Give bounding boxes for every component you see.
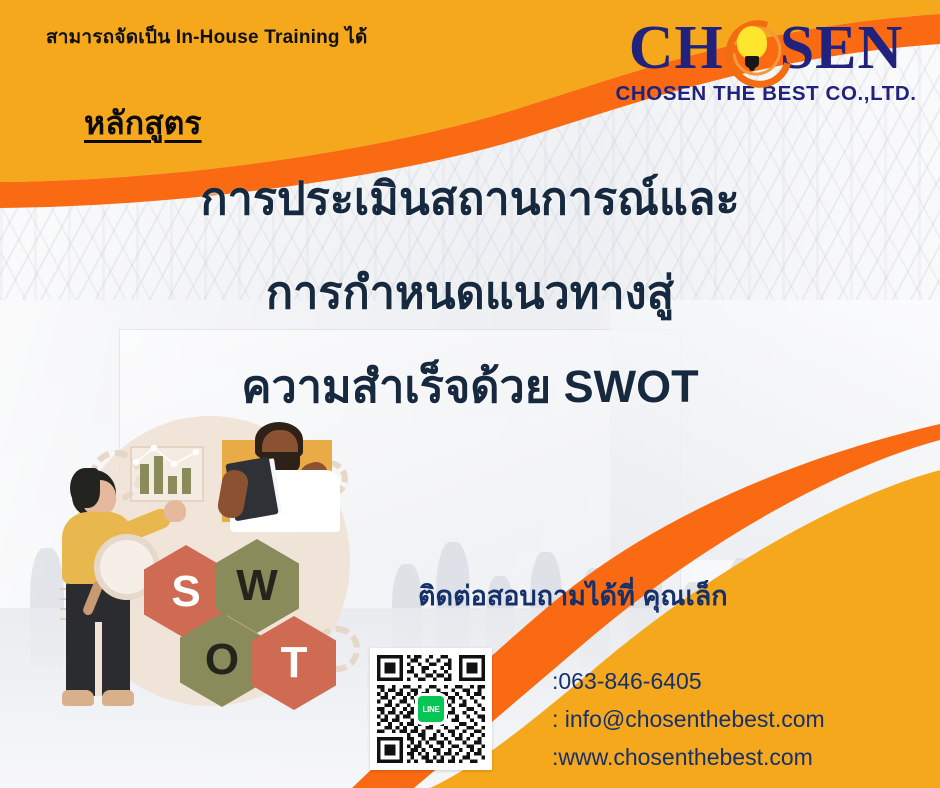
title-line-2: การกำหนดแนวทางสู่ [0,246,940,340]
contact-details: :063-846-6405 : info@chosenthebest.com :… [552,662,825,776]
contact-phone[interactable]: :063-846-6405 [552,662,825,700]
contact-email[interactable]: : info@chosenthebest.com [552,700,825,738]
banner-text: สามารถจัดเป็น In-House Training ได้ [46,22,368,52]
logo-word-after: SEN [780,14,904,82]
line-graph-icon [130,442,204,476]
swot-illustration: S W O T [52,408,382,738]
contact-website[interactable]: :www.chosenthebest.com [552,738,825,776]
line-qr-code[interactable]: LINE [370,648,492,770]
logo-word-before: CH [629,14,724,82]
title-line-1: การประเมินสถานการณ์และ [0,152,940,246]
lightbulb-icon [724,18,780,78]
promotional-poster: สามารถจัดเป็น In-House Training ได้ CH S… [0,0,940,788]
course-kicker: หลักสูตร [84,98,202,149]
logo-wordmark: CH SEN [606,16,926,80]
line-logo-label: LINE [422,705,439,714]
contact-heading: ติดต่อสอบถามได้ที่ คุณเล็ก [418,574,728,617]
company-logo: CH SEN CHOSEN THE BEST CO.,LTD. [606,16,926,106]
line-logo-icon: LINE [415,693,447,725]
page-title: การประเมินสถานการณ์และ การกำหนดแนวทางสู่… [0,152,940,434]
